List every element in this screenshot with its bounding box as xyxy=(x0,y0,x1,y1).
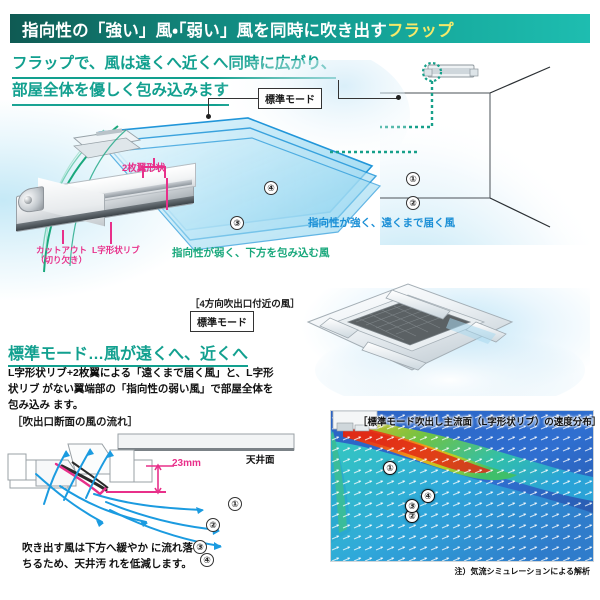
mode-badge-dot-left xyxy=(206,114,211,119)
mode-badge-lead-right xyxy=(338,98,398,99)
ceiling-cassette-photo xyxy=(300,278,590,396)
cfd-number-3: ③ xyxy=(405,499,419,513)
cutout-lead xyxy=(62,230,64,244)
section2-body-line2: がない翼端部の「指向性の弱い風」で部屋全体を包み込み xyxy=(8,383,273,411)
callout-number-3: ③ xyxy=(230,216,244,230)
section2-title: 標準モード…風が遠くへ、近くへ xyxy=(8,340,248,367)
cfd-number-1: ① xyxy=(383,461,397,475)
ceiling-surface-line xyxy=(118,448,294,451)
callout-number-2: ② xyxy=(406,196,420,210)
flap-pivot-knob xyxy=(24,196,32,204)
header-bar: 指向性の「強い」風・「弱い」風を同時に吹き出すフラップ xyxy=(10,14,590,43)
dimension-label-23mm: 23mm xyxy=(172,458,201,469)
unit-section-caption: ［4方向吹出口付近の風］ xyxy=(190,296,300,310)
cfd-title: ［標準モード吹出し主流面（L字形状リブ）の速度分布］ xyxy=(358,414,600,428)
section2-body: L字形状リブ+2枚翼による「遠くまで届く風」と、L字形状リブ がない翼端部の「指… xyxy=(8,366,276,413)
xsec-number-4: ④ xyxy=(200,553,214,567)
xsec-number-1: ① xyxy=(228,497,242,511)
two-wing-pointer xyxy=(166,178,168,210)
mode-badge-lead-up xyxy=(338,80,339,98)
cross-section-title: ［吹出口断面の風の流れ］ xyxy=(12,414,138,429)
strong-flow-label: 指向性が強く、遠くまで届く風 xyxy=(308,215,455,230)
page-root: 指向性の「強い」風・「弱い」風を同時に吹き出すフラップ フラップで、風は遠くへ近… xyxy=(0,0,600,600)
section2-body-line3: ます。 xyxy=(53,399,83,411)
ceiling-unit-icon xyxy=(424,65,478,77)
ceiling-slab xyxy=(118,434,294,450)
label-two-wing-shape: 2枚翼形状 xyxy=(122,160,165,174)
callout-number-1: ① xyxy=(406,172,420,186)
mode-badge-top: 標準モード xyxy=(258,88,322,109)
cross-section-diagram xyxy=(6,430,296,550)
room-edge-top xyxy=(490,67,550,93)
flap-detail-photo xyxy=(16,160,196,240)
xsec-number-2: ② xyxy=(206,518,220,532)
l-rib-lead xyxy=(110,222,112,244)
page-title-accent: フラップ xyxy=(387,22,454,40)
cfd-vector-overlay xyxy=(331,411,593,561)
callout-number-4: ④ xyxy=(264,181,278,195)
cross-section-note-line3: れを低減します。 xyxy=(109,558,192,570)
cross-section-note-line1: 吹き出す風は下方へ緩やか xyxy=(22,542,148,554)
cfd-number-4: ④ xyxy=(421,489,435,503)
page-title: 指向性の「強い」風・「弱い」風を同時に吹き出すフラップ xyxy=(22,17,454,41)
cfd-note: 注）気流シミュレーションによる解析 xyxy=(455,566,590,577)
cfd-field xyxy=(331,411,593,561)
ceiling-label: 天井面 xyxy=(246,452,275,466)
cfd-velocity-plot: ① ② ③ ④ xyxy=(330,410,594,562)
label-l-shaped-rib: L字形状リブ xyxy=(92,244,140,256)
weak-flow-label: 指向性が弱く、下方を包み込む風 xyxy=(172,245,330,260)
unit-section-mode-badge: 標準モード xyxy=(190,311,254,332)
mode-badge-dot-right xyxy=(396,95,401,100)
page-title-main: 指向性の「強い」風・「弱い」風を同時に吹き出す xyxy=(22,22,387,40)
label-cutout-line2: （切り欠き） xyxy=(36,254,87,266)
mode-badge-lead-left xyxy=(208,98,258,99)
cross-section-note: 吹き出す風は下方へ緩やか に流れ落ちるため、天井汚 れを低減します。 xyxy=(22,540,202,573)
